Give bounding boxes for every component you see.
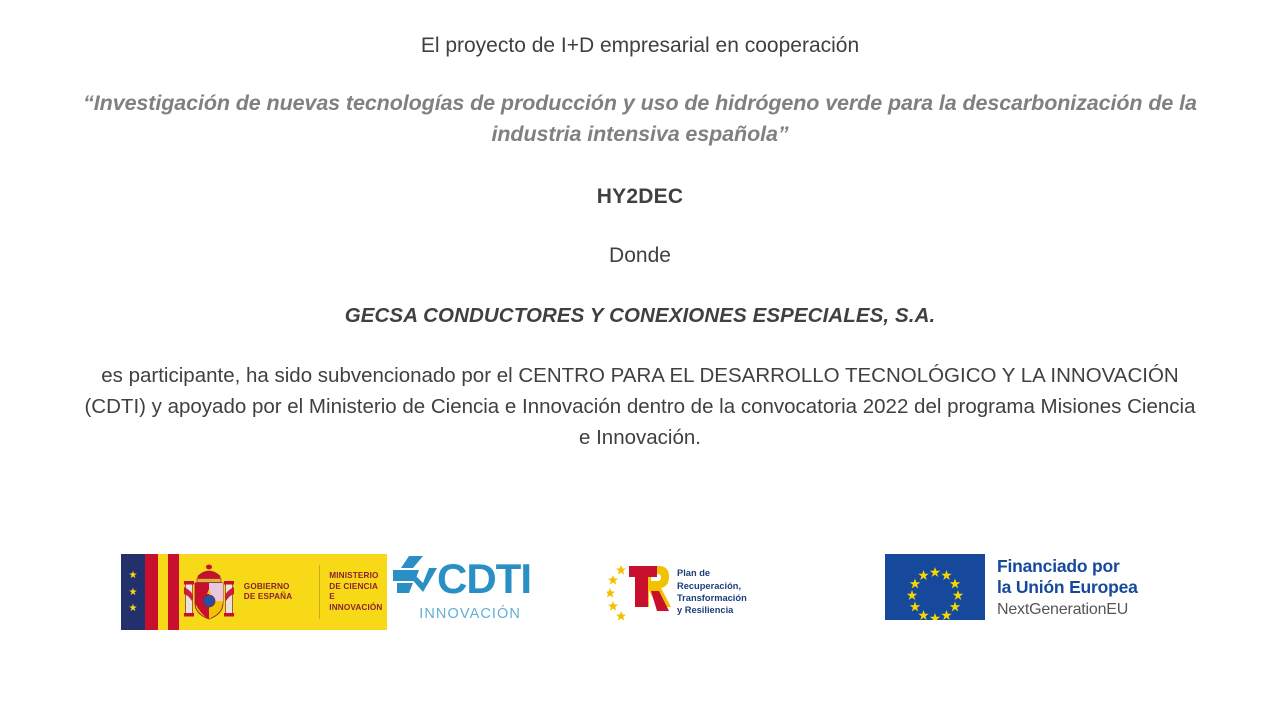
- spain-coat-of-arms-icon: [179, 554, 240, 630]
- prtr-line-4: y Resiliencia: [677, 604, 747, 616]
- body-paragraph: es participante, ha sido subvencionado p…: [64, 360, 1216, 453]
- prtr-logo: Plan de Recuperación, Transformación y R…: [607, 556, 777, 628]
- eu-funding-line-1: Financiado por: [997, 556, 1138, 577]
- gobierno-de-espana-logo: ★ ★ ★: [121, 554, 387, 630]
- spain-flag-stripe-icon: ★ ★ ★: [121, 554, 179, 630]
- cdti-logo: CDTI INNOVACIÓN: [393, 554, 523, 630]
- slide-canvas: El proyecto de I+D empresarial en cooper…: [0, 0, 1280, 720]
- ministerio-line-3: E INNOVACIÓN: [329, 592, 387, 613]
- star-icon: ★: [129, 588, 138, 597]
- project-title-quoted: “Investigación de nuevas tecnologías de …: [64, 88, 1216, 150]
- prtr-monogram-icon: [607, 561, 673, 623]
- eu-blue-band-icon: ★ ★ ★: [121, 554, 145, 630]
- logo-divider: [319, 565, 320, 619]
- gobierno-line-2: DE ESPAÑA: [244, 592, 318, 603]
- company-name: GECSA CONDUCTORES Y CONEXIONES ESPECIALE…: [64, 301, 1216, 331]
- gobierno-de-espana-text: GOBIERNO DE ESPAÑA: [244, 582, 318, 603]
- logo-strip: ★ ★ ★: [0, 548, 1280, 638]
- spain-red-stripe-icon: [145, 554, 158, 630]
- gobierno-line-1: GOBIERNO: [244, 582, 318, 593]
- cdti-tagline: INNOVACIÓN: [393, 606, 523, 622]
- eu-flag-icon: [885, 554, 985, 620]
- intro-line: El proyecto de I+D empresarial en cooper…: [64, 26, 1216, 61]
- ministerio-line-2: DE CIENCIA: [329, 582, 387, 593]
- gobierno-text-group: GOBIERNO DE ESPAÑA MINISTERIO DE CIENCIA…: [240, 554, 387, 630]
- spain-red-stripe-icon: [168, 554, 179, 630]
- ministerio-text: MINISTERIO DE CIENCIA E INNOVACIÓN: [329, 571, 387, 613]
- cdti-wordmark-row: CDTI: [393, 554, 523, 604]
- text-content-block: El proyecto de I+D empresarial en cooper…: [64, 26, 1216, 453]
- spain-yellow-stripe-icon: [158, 554, 168, 630]
- where-label: Donde: [64, 241, 1216, 271]
- star-icon: ★: [129, 604, 138, 613]
- prtr-line-2: Recuperación,: [677, 580, 747, 592]
- cdti-wordmark: CDTI: [437, 557, 531, 601]
- project-acronym: HY2DEC: [64, 182, 1216, 212]
- eu-text-group: Financiado por la Unión Europea NextGene…: [997, 554, 1138, 620]
- prtr-text-group: Plan de Recuperación, Transformación y R…: [677, 567, 747, 617]
- star-icon: ★: [129, 571, 138, 580]
- prtr-line-1: Plan de: [677, 567, 747, 579]
- cdti-arrow-icon: [393, 556, 437, 602]
- next-generation-eu-text: NextGenerationEU: [997, 600, 1138, 620]
- prtr-line-3: Transformación: [677, 592, 747, 604]
- ministerio-line-1: MINISTERIO: [329, 571, 387, 582]
- european-union-funding-logo: Financiado por la Unión Europea NextGene…: [885, 554, 1160, 628]
- eu-funding-line-2: la Unión Europea: [997, 577, 1138, 598]
